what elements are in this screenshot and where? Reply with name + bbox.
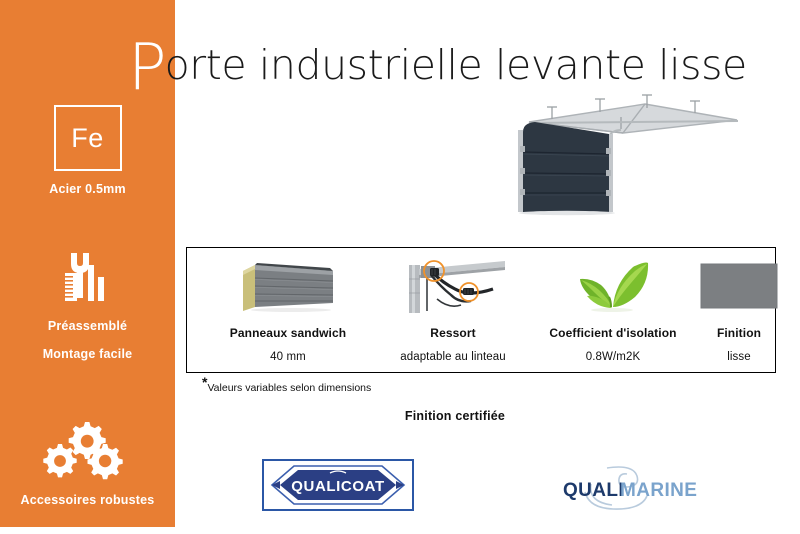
feature-item-spring-title: Ressort bbox=[430, 326, 475, 340]
gears-icon bbox=[0, 418, 175, 480]
feature-item-finish: Finition lisse bbox=[703, 248, 775, 374]
feature-item-spring: Ressort adaptable au linteau bbox=[383, 248, 523, 374]
feature-item-insulation-value: 0.8W/m2K bbox=[586, 351, 640, 363]
svg-text:MARINE: MARINE bbox=[620, 480, 697, 501]
green-leaves-icon bbox=[565, 255, 661, 317]
footnote-marker: * bbox=[202, 374, 207, 390]
certification-heading-text: Finition certifiée bbox=[405, 409, 505, 423]
qualimarine-logo: QUALI MARINE QUALIMARINE bbox=[555, 462, 715, 512]
feature-item-panel: Panneaux sandwich 40 mm bbox=[193, 248, 383, 374]
sidebar-item-preassembled: Préassemblé Montage facile bbox=[0, 245, 175, 363]
page-title-rest: orte industrielle levante lisse bbox=[165, 41, 747, 89]
sidebar-item-preassembled-label2: Montage facile bbox=[0, 346, 175, 363]
qualimarine-logo-name: QUALIMARINE bbox=[715, 462, 716, 463]
wrench-tools-icon bbox=[0, 245, 175, 307]
certification-heading: Finition certifiée bbox=[0, 409, 800, 423]
page-title: Porte industrielle levante lisse bbox=[128, 27, 747, 85]
sidebar-item-steel: Fe Acier 0.5mm bbox=[0, 105, 175, 198]
footnote-text: Valeurs variables selon dimensions bbox=[207, 382, 371, 394]
feature-item-finish-title: Finition bbox=[717, 326, 761, 340]
feature-specs-box: Panneaux sandwich 40 mm bbox=[186, 247, 776, 373]
feature-item-insulation-title: Coefficient d'isolation bbox=[549, 326, 676, 340]
sandwich-panel-photo bbox=[229, 255, 347, 317]
finish-swatch-icon bbox=[697, 255, 781, 317]
sidebar-item-steel-label: Acier 0.5mm bbox=[0, 181, 175, 198]
industrial-sectional-door-photo bbox=[505, 86, 745, 216]
fe-element-icon: Fe bbox=[54, 105, 122, 171]
sidebar-item-accessories-label: Accessoires robustes bbox=[0, 492, 175, 509]
spring-mechanism-photo bbox=[397, 255, 509, 317]
feature-item-insulation: Coefficient d'isolation 0.8W/m2K bbox=[523, 248, 703, 374]
feature-item-panel-value: 40 mm bbox=[270, 351, 306, 363]
qualicoat-logo: QUALICOAT QUALICOAT bbox=[262, 459, 414, 511]
sidebar-item-accessories: Accessoires robustes bbox=[0, 418, 175, 509]
feature-item-panel-title: Panneaux sandwich bbox=[230, 326, 346, 340]
page-title-initial: P bbox=[128, 31, 165, 105]
sidebar-item-preassembled-label: Préassemblé bbox=[0, 318, 175, 335]
qualicoat-logo-name: QUALICOAT bbox=[412, 461, 413, 462]
product-sheet-page: Fe Acier 0.5mm bbox=[0, 0, 800, 534]
svg-text:QUALICOAT: QUALICOAT bbox=[291, 478, 384, 495]
svg-text:QUALI: QUALI bbox=[563, 480, 624, 501]
footnote: *Valeurs variables selon dimensions bbox=[202, 378, 371, 394]
feature-item-finish-value: lisse bbox=[727, 351, 751, 363]
fe-badge-text: Fe bbox=[71, 125, 104, 152]
feature-item-spring-value: adaptable au linteau bbox=[400, 351, 506, 363]
